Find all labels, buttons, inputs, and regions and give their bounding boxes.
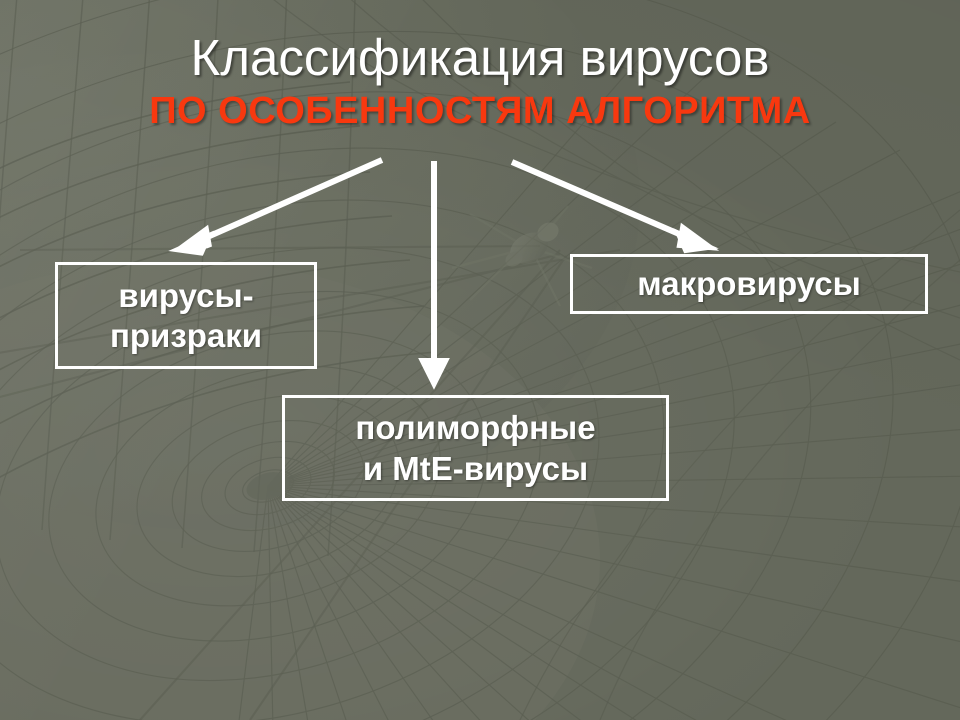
arrow-to-macro-icon bbox=[512, 162, 709, 250]
node-label-polymorphic-viruses: полиморфные и MtE-вирусы bbox=[349, 407, 601, 489]
arrow-to-ghost-icon bbox=[179, 160, 382, 253]
node-box-ghost-viruses[interactable]: вирусы- призраки bbox=[55, 262, 317, 369]
slide-subtitle: ПО ОСОБЕННОСТЯМ АЛГОРИТМА bbox=[0, 89, 960, 133]
node-label-ghost-viruses: вирусы- призраки bbox=[104, 276, 268, 356]
slide-title-block: Классификация вирусов ПО ОСОБЕННОСТЯМ АЛ… bbox=[0, 30, 960, 133]
slide-title: Классификация вирусов bbox=[0, 30, 960, 86]
node-box-polymorphic-viruses[interactable]: полиморфные и MtE-вирусы bbox=[282, 395, 669, 501]
node-label-macro-viruses: макровирусы bbox=[631, 265, 867, 303]
node-box-macro-viruses[interactable]: макровирусы bbox=[570, 254, 928, 314]
arrow-to-poly-icon bbox=[423, 161, 445, 383]
slide: Классификация вирусов ПО ОСОБЕННОСТЯМ АЛ… bbox=[0, 0, 960, 720]
